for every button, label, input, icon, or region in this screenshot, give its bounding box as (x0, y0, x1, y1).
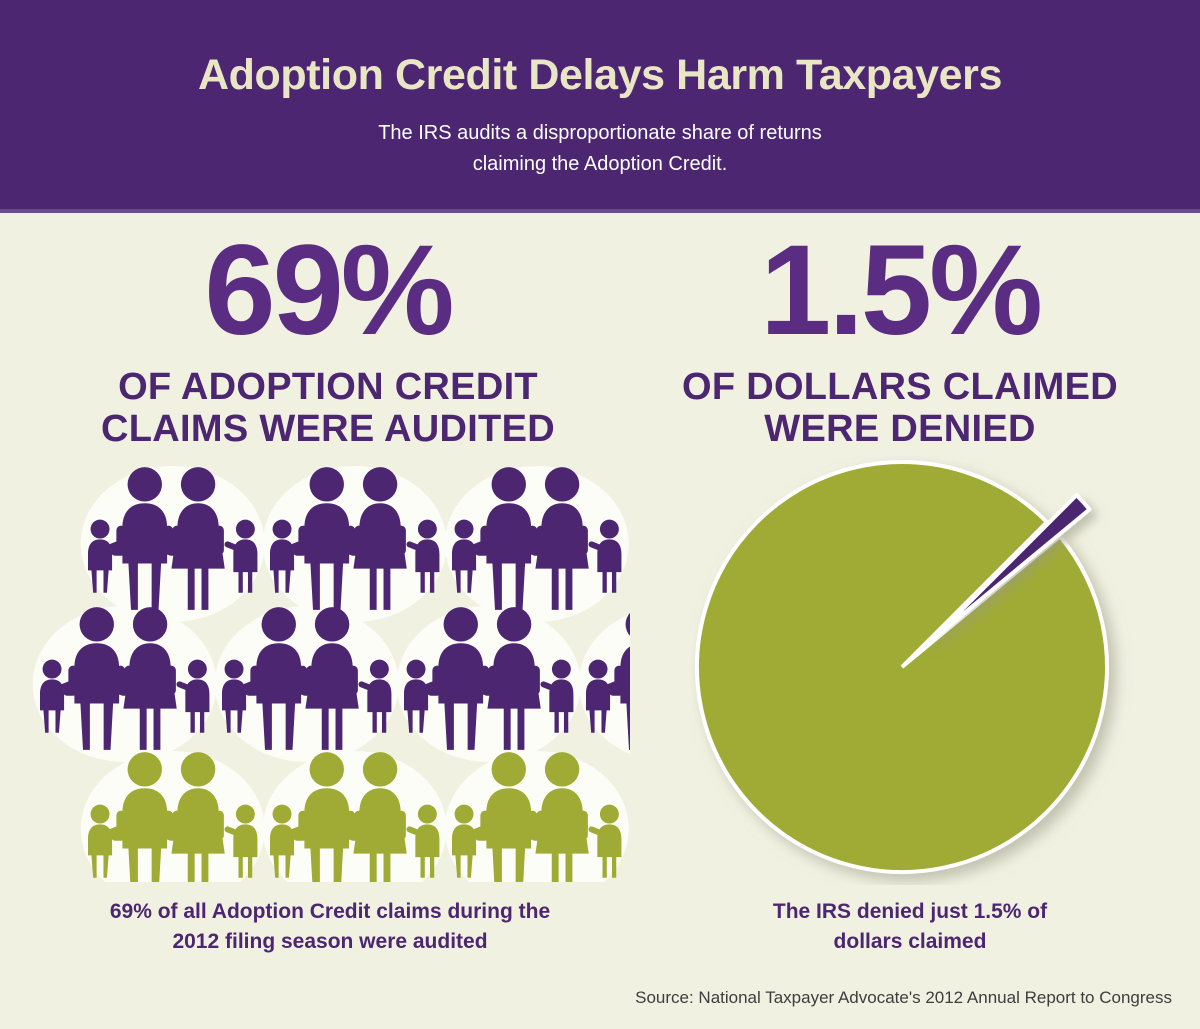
page-subtitle-line-2: claiming the Adoption Credit. (0, 149, 1200, 180)
left-stat-label: OF ADOPTION CREDIT CLAIMS WERE AUDITED (28, 366, 628, 451)
right-stat-block: 1.5% OF DOLLARS CLAIMED WERE DENIED (620, 230, 1180, 451)
left-stat-label-line-1: OF ADOPTION CREDIT (28, 366, 628, 409)
left-caption-line-2: 2012 filing season were audited (50, 927, 610, 957)
page-title: Adoption Credit Delays Harm Taxpayers (0, 52, 1200, 99)
page-subtitle-line-1: The IRS audits a disproportionate share … (0, 118, 1200, 149)
right-caption-line-1: The IRS denied just 1.5% of (660, 897, 1160, 927)
pie-chart-svg (690, 455, 1160, 885)
right-stat-label: OF DOLLARS CLAIMED WERE DENIED (620, 366, 1180, 451)
family-pictogram-chart (18, 462, 630, 882)
right-stat-label-line-1: OF DOLLARS CLAIMED (620, 366, 1180, 409)
left-stat-label-line-2: CLAIMS WERE AUDITED (28, 408, 628, 451)
right-stat-value: 1.5% (620, 230, 1180, 352)
left-caption: 69% of all Adoption Credit claims during… (50, 897, 610, 958)
pictogram-svg (18, 462, 630, 882)
right-stat-label-line-2: WERE DENIED (620, 408, 1180, 451)
right-caption: The IRS denied just 1.5% of dollars clai… (660, 897, 1160, 958)
left-stat-value: 69% (28, 230, 628, 352)
left-stat-block: 69% OF ADOPTION CREDIT CLAIMS WERE AUDIT… (28, 230, 628, 451)
header-divider-rule (0, 209, 1200, 213)
infographic-canvas: Adoption Credit Delays Harm Taxpayers Th… (0, 0, 1200, 1029)
source-note: Source: National Taxpayer Advocate's 201… (635, 988, 1172, 1008)
dollars-denied-pie-chart (690, 455, 1160, 885)
right-caption-line-2: dollars claimed (660, 927, 1160, 957)
left-caption-line-1: 69% of all Adoption Credit claims during… (50, 897, 610, 927)
page-subtitle: The IRS audits a disproportionate share … (0, 118, 1200, 180)
